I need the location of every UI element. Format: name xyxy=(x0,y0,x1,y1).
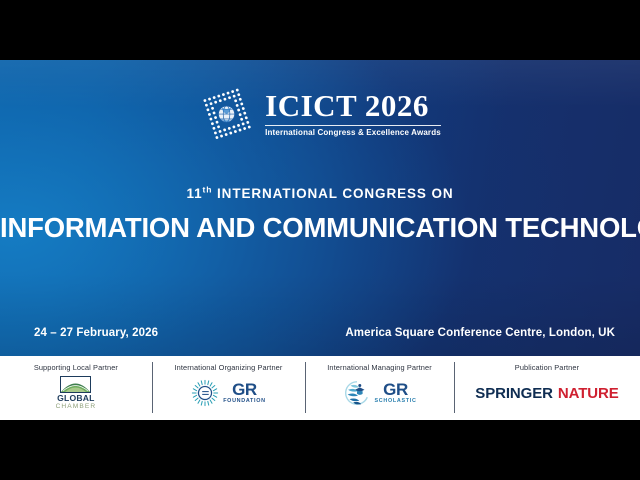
springer-nature-logo[interactable]: SPRINGER NATURE xyxy=(475,376,618,410)
partner-name: SPRINGER xyxy=(475,385,553,402)
letterbox-top-bar xyxy=(0,0,640,60)
partner-name: GR xyxy=(232,381,257,398)
partner-publication: Publication Partner SPRINGER NATURE xyxy=(454,356,640,420)
event-date: 24 – 27 February, 2026 xyxy=(34,327,158,339)
edition-rest: INTERNATIONAL CONGRESS ON xyxy=(217,186,454,201)
partner-strip: Supporting Local Partner GLOBAL CHAMBER xyxy=(0,356,640,420)
partner-label: International Managing Partner xyxy=(327,363,431,372)
page-title: INFORMATION AND COMMUNICATION TECHNOLOGY xyxy=(0,212,640,244)
event-meta-row: 24 – 27 February, 2026 America Square Co… xyxy=(34,327,615,339)
partner-subname: CHAMBER xyxy=(56,404,97,411)
brand-wordmark: ICICT 2026 International Congress & Exce… xyxy=(265,90,441,137)
gr-scholastic-emblem-icon xyxy=(343,379,371,407)
gr-foundation-logo[interactable]: GR FOUNDATION xyxy=(191,376,266,410)
edition-ordinal: th xyxy=(203,185,213,195)
partner-label: Supporting Local Partner xyxy=(34,363,118,372)
partner-name: GLOBAL xyxy=(57,394,94,403)
congress-edition-line: 11th INTERNATIONAL CONGRESS ON xyxy=(0,186,640,201)
partner-international-organizing: International Organizing Partner xyxy=(152,356,305,420)
partner-label: International Organizing Partner xyxy=(174,363,282,372)
partner-subname: SCHOLASTIC xyxy=(375,399,417,404)
brand-subtitle: International Congress & Excellence Awar… xyxy=(265,129,441,137)
icict-dotted-globe-icon xyxy=(199,86,253,140)
global-chamber-mark-icon xyxy=(60,376,91,393)
partner-subname: NATURE xyxy=(558,385,619,402)
partner-supporting-local: Supporting Local Partner GLOBAL CHAMBER xyxy=(0,356,152,420)
partner-name: GR xyxy=(383,381,408,398)
banner-background: ICICT 2026 International Congress & Exce… xyxy=(0,60,640,356)
event-venue: America Square Conference Centre, London… xyxy=(345,327,615,339)
partner-label: Publication Partner xyxy=(515,363,579,372)
conference-banner-slide: ICICT 2026 International Congress & Exce… xyxy=(0,0,640,480)
global-chamber-logo[interactable]: GLOBAL CHAMBER xyxy=(56,376,97,410)
brand-divider-rule xyxy=(265,125,441,126)
edition-number: 11 xyxy=(186,186,202,201)
brand-title: ICICT 2026 xyxy=(265,90,429,121)
partner-international-managing: International Managing Partner xyxy=(305,356,454,420)
gr-foundation-emblem-icon xyxy=(191,379,219,407)
partner-subname: FOUNDATION xyxy=(223,399,266,404)
letterbox-bottom-bar xyxy=(0,420,640,480)
headline-block: 11th INTERNATIONAL CONGRESS ON INFORMATI… xyxy=(0,186,640,244)
gr-scholastic-logo[interactable]: GR SCHOLASTIC xyxy=(343,376,417,410)
brand-lockup: ICICT 2026 International Congress & Exce… xyxy=(0,86,640,140)
